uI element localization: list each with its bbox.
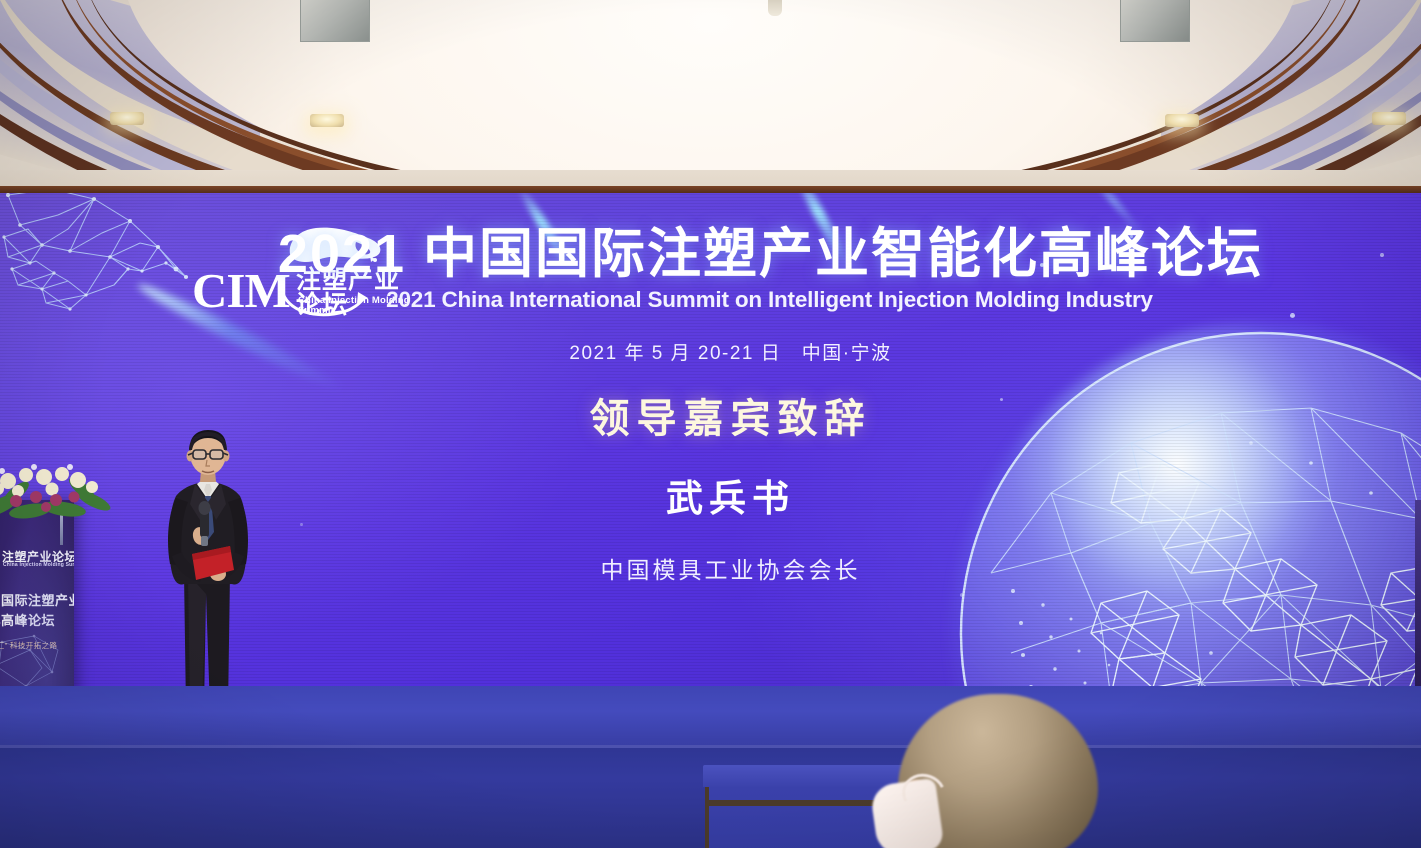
ceiling bbox=[0, 0, 1421, 186]
main-title-chinese: 2021 中国国际注塑产业智能化高峰论坛 bbox=[0, 226, 1421, 283]
podium-logo-english: China Injection Molding Summit bbox=[3, 562, 74, 568]
downlight-2 bbox=[310, 114, 344, 127]
downlight-1 bbox=[110, 112, 144, 125]
audience-member bbox=[880, 694, 1130, 848]
podium-logo-chinese: 注塑产业论坛 bbox=[2, 548, 74, 565]
main-title-english: 2021 China International Summit on Intel… bbox=[0, 287, 1421, 313]
star-dot bbox=[1290, 313, 1295, 318]
conference-photo-scene: CIM 注塑产业论坛 China Injection Molding Summi… bbox=[0, 0, 1421, 848]
ceiling-skylight-right bbox=[1120, 0, 1190, 42]
downlight-4 bbox=[1372, 112, 1406, 125]
podium-slogan: “赢智汇” 科技开拓之路 bbox=[0, 640, 74, 651]
floral-arrangement bbox=[0, 455, 112, 523]
ceiling-pendant-fixture bbox=[768, 0, 782, 16]
ceiling-skylight-left bbox=[300, 0, 370, 42]
podium-title-line-2: 能化高峰论坛 bbox=[0, 612, 74, 631]
event-date-location: 2021 年 5 月 20-21 日 中国·宁波 bbox=[0, 338, 1421, 365]
downlight-3 bbox=[1165, 114, 1199, 127]
speaker-person bbox=[148, 424, 268, 714]
podium-title-line-1: 中国国际注塑产业 bbox=[0, 592, 74, 611]
